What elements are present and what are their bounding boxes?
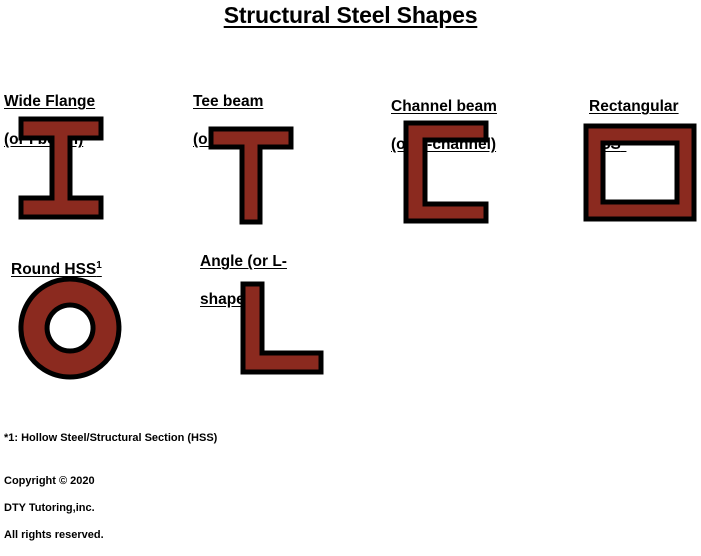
i-beam-svg [18, 116, 104, 221]
c-channel-svg [403, 120, 489, 224]
label-wide-flange-line1: Wide Flange [4, 93, 95, 110]
round-hss-path [21, 279, 119, 377]
page-title-text: Structural Steel Shapes [224, 2, 478, 28]
i-beam-path [21, 119, 101, 217]
label-tee-beam-line1: Tee beam [193, 93, 263, 110]
label-channel-beam-line1: Channel beam [391, 98, 497, 115]
copyright-line-3: All rights reserved. [4, 529, 104, 543]
footnote-marker-round-hss: 1 [96, 260, 102, 271]
i-beam-shape [18, 116, 104, 221]
rectangular-hss-shape [583, 123, 697, 222]
l-angle-svg [240, 281, 324, 375]
l-angle-shape [240, 281, 324, 375]
copyright-line-1: Copyright © 2020 [4, 475, 104, 489]
round-hss-shape [17, 275, 123, 381]
t-beam-svg [208, 126, 294, 225]
t-beam-shape [208, 126, 294, 225]
rectangular-hss-svg [583, 123, 697, 222]
t-beam-path [211, 129, 291, 222]
footnote-hss-definition: *1: Hollow Steel/Structural Section (HSS… [4, 432, 217, 446]
c-channel-shape [403, 120, 489, 224]
diagram-canvas: Structural Steel Shapes Wide Flange (or … [0, 0, 701, 498]
page-title: Structural Steel Shapes [0, 2, 701, 29]
c-channel-path [406, 123, 486, 221]
label-angle-line1: Angle (or L- [200, 253, 287, 270]
round-hss-svg [17, 275, 123, 381]
copyright-line-2: DTY Tutoring,inc. [4, 502, 104, 516]
label-rectangular-hss-line1: Rectangular [589, 98, 679, 115]
l-angle-path [243, 284, 321, 372]
copyright-block: Copyright © 2020 DTY Tutoring,inc. All r… [4, 461, 104, 556]
rectangular-hss-path [586, 126, 694, 219]
